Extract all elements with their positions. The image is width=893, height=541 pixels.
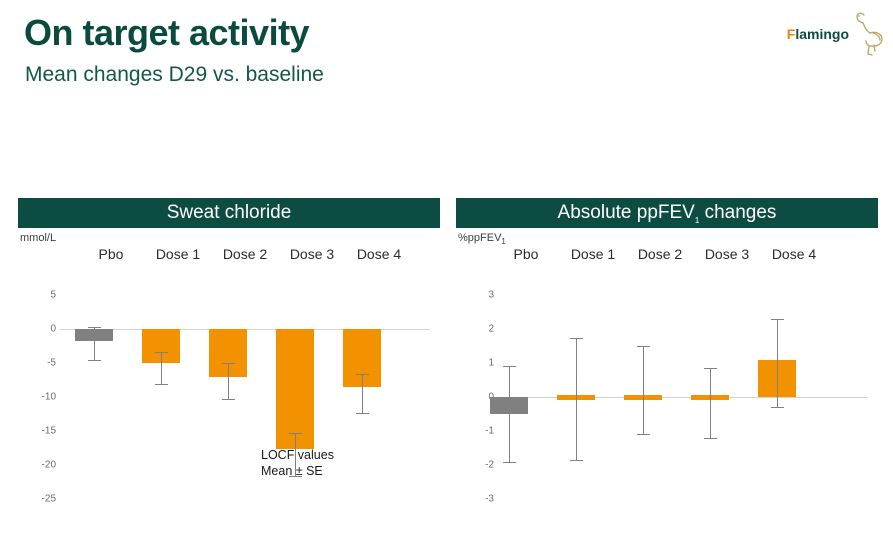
ytick-right-3: 0 xyxy=(456,392,494,403)
ytick-left-1: 0 xyxy=(18,324,56,335)
error-bar-dose-2-sweat-chloride xyxy=(228,363,229,399)
ytick-right-2: 1 xyxy=(456,358,494,369)
error-cap-upper-dose-4 xyxy=(771,319,784,320)
error-bar-dose-3-absolute-ppfev1-changes xyxy=(710,368,711,438)
error-bar-dose-1-absolute-ppfev1-changes xyxy=(576,338,577,460)
category-label-dose1-right: Dose 1 xyxy=(558,246,628,262)
error-cap-upper-pbo xyxy=(503,366,516,367)
error-bar-dose-4-absolute-ppfev1-changes xyxy=(777,319,778,407)
ytick-left-3: -10 xyxy=(18,392,56,403)
logo-text-rest: lamingo xyxy=(795,26,849,42)
category-label-pbo-right: Pbo xyxy=(491,246,561,262)
ytick-right-5: -2 xyxy=(456,460,494,471)
ytick-left-4: -15 xyxy=(18,426,56,437)
chart-panel-sweat-chloride: Sweat chloride mmol/L Pbo Dose 1 Dose 2 … xyxy=(18,198,440,495)
error-cap-upper-dose-2 xyxy=(637,346,650,347)
ytick-left-0: 5 xyxy=(18,290,56,301)
ytick-right-6: -3 xyxy=(456,494,494,505)
ytick-left-6: -25 xyxy=(18,494,56,505)
page-subtitle: Mean changes D29 vs. baseline xyxy=(25,63,324,86)
error-bar-dose-2-absolute-ppfev1-changes xyxy=(643,346,644,434)
category-label-dose3-left: Dose 3 xyxy=(277,246,347,262)
error-cap-upper-dose-3 xyxy=(289,433,302,434)
error-cap-lower-dose-4 xyxy=(771,407,784,408)
ytick-right-4: -1 xyxy=(456,426,494,437)
chart-panel-ppfev1: Absolute ppFEV1 changes %ppFEV1 Pbo Dose… xyxy=(456,198,878,495)
error-bar-dose-3-sweat-chloride xyxy=(295,433,296,476)
error-cap-lower-pbo xyxy=(88,360,101,361)
y-axis-unit-label-right: %ppFEV1 xyxy=(456,232,878,245)
category-label-dose4-right: Dose 4 xyxy=(759,246,829,262)
error-cap-upper-dose-1 xyxy=(570,338,583,339)
chart-title-ppfev1-prefix: Absolute ppFEV xyxy=(558,202,695,223)
error-cap-upper-dose-2 xyxy=(222,363,235,364)
ytick-right-0: 3 xyxy=(456,290,494,301)
error-bar-pbo-sweat-chloride xyxy=(94,327,95,360)
y-axis-unit-label-left: mmol/L xyxy=(18,232,440,245)
ytick-right-1: 2 xyxy=(456,324,494,335)
error-cap-lower-dose-3 xyxy=(704,438,717,439)
error-bar-dose-4-sweat-chloride xyxy=(362,374,363,413)
plot-area-ppfev1: 3 2 1 0 -1 -2 -3 xyxy=(456,270,878,495)
brand-logo: Flamingo xyxy=(765,8,885,56)
logo-text: Flamingo xyxy=(787,26,849,42)
category-labels-right: Pbo Dose 1 Dose 2 Dose 3 Dose 4 xyxy=(456,246,878,268)
zero-baseline-right xyxy=(498,397,868,398)
chart-title-ppfev1: Absolute ppFEV1 changes xyxy=(456,198,878,228)
page-title: On target activity xyxy=(24,14,309,52)
category-label-pbo-left: Pbo xyxy=(76,246,146,262)
category-label-dose4-left: Dose 4 xyxy=(344,246,414,262)
error-bar-pbo-absolute-ppfev1-changes xyxy=(509,366,510,461)
category-label-dose2-left: Dose 2 xyxy=(210,246,280,262)
ytick-left-5: -20 xyxy=(18,460,56,471)
error-cap-lower-dose-3 xyxy=(289,476,302,477)
error-cap-lower-dose-2 xyxy=(637,434,650,435)
ytick-left-2: -5 xyxy=(18,358,56,369)
category-label-dose1-left: Dose 1 xyxy=(143,246,213,262)
error-cap-lower-dose-2 xyxy=(222,399,235,400)
error-cap-lower-dose-1 xyxy=(570,460,583,461)
error-bar-dose-1-sweat-chloride xyxy=(161,352,162,384)
chart-title-ppfev1-suffix: changes xyxy=(699,202,776,223)
flamingo-bird-icon xyxy=(849,10,885,56)
error-cap-lower-pbo xyxy=(503,462,516,463)
unit-prefix-right: %ppFEV xyxy=(458,232,501,244)
error-cap-upper-dose-4 xyxy=(356,374,369,375)
bar-dose-3-sweat-chloride xyxy=(276,329,314,449)
unit-subscript-right: 1 xyxy=(501,237,505,246)
chart-title-sweat-chloride: Sweat chloride xyxy=(18,198,440,228)
error-cap-lower-dose-1 xyxy=(155,384,168,385)
category-label-dose2-right: Dose 2 xyxy=(625,246,695,262)
error-cap-lower-dose-4 xyxy=(356,413,369,414)
category-labels-left: Pbo Dose 1 Dose 2 Dose 3 Dose 4 xyxy=(18,246,440,268)
plot-area-sweat-chloride: 5 0 -5 -10 -15 -20 -25 * LOCF values Mea… xyxy=(18,270,440,495)
error-cap-upper-pbo xyxy=(88,327,101,328)
chart-footnote: LOCF values Mean ± SE xyxy=(261,448,334,479)
category-label-dose3-right: Dose 3 xyxy=(692,246,762,262)
error-cap-upper-dose-3 xyxy=(704,368,717,369)
error-cap-upper-dose-1 xyxy=(155,352,168,353)
